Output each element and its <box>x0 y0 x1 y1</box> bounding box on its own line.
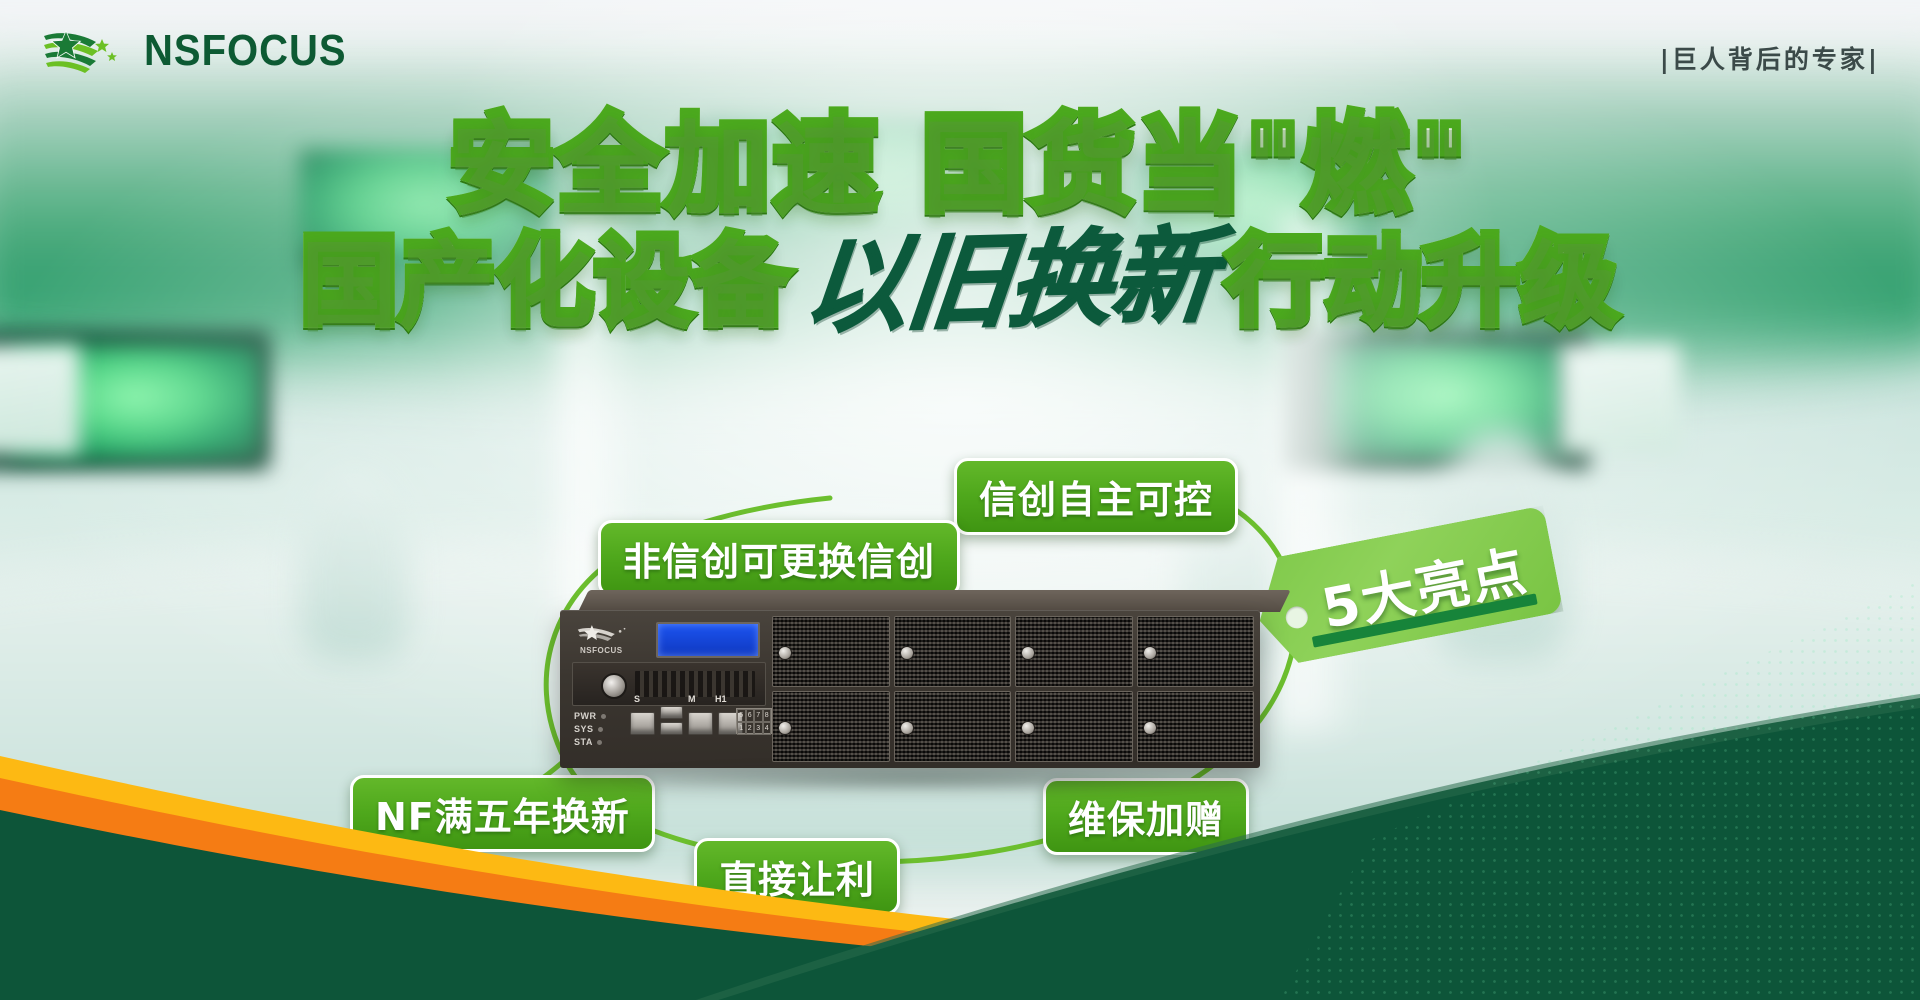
headline-line-2: 国产化设备 以旧换新 行动升级 <box>0 229 1920 333</box>
appliance-top-panel <box>578 590 1291 612</box>
nsfocus-logo: NSFOCUS <box>40 26 347 76</box>
wave-dark-green-right <box>700 698 1920 1000</box>
brand-slogan: |巨人背后的专家| <box>1660 40 1880 76</box>
nsfocus-logo-text: NSFOCUS <box>144 27 347 76</box>
headline-line-2-prefix: 国产化设备 <box>301 233 791 329</box>
badge-xinchuang-autonomous[interactable]: 信创自主可控 <box>954 458 1238 535</box>
nsfocus-flag-star-icon <box>40 26 132 76</box>
badge-label: 非信创可更换信创 <box>623 531 935 586</box>
badge-label: 信创自主可控 <box>979 469 1213 524</box>
headline-line-1-text: 安全加速 国货当"燃" <box>450 103 1471 225</box>
headline-line-1: 安全加速 国货当"燃" <box>0 112 1920 217</box>
headline-calligraphy-text: 以旧换新 <box>799 224 1218 339</box>
badge-non-xinchuang-replace[interactable]: 非信创可更换信创 <box>598 520 960 597</box>
headline-block: 安全加速 国货当"燃" 国产化设备 以旧换新 行动升级 <box>0 112 1920 333</box>
headline-line-2-suffix: 行动升级 <box>1227 233 1619 329</box>
appliance-brand-text: NSFOCUS <box>580 646 623 655</box>
appliance-nsfocus-logo-icon: NSFOCUS <box>576 624 644 654</box>
bottom-wave-decoration <box>0 660 1920 1000</box>
banner-canvas: NSFOCUS |巨人背后的专家| 安全加速 国货当"燃" 国产化设备 以旧换新… <box>0 0 1920 1000</box>
appliance-lcd-display <box>656 622 760 658</box>
